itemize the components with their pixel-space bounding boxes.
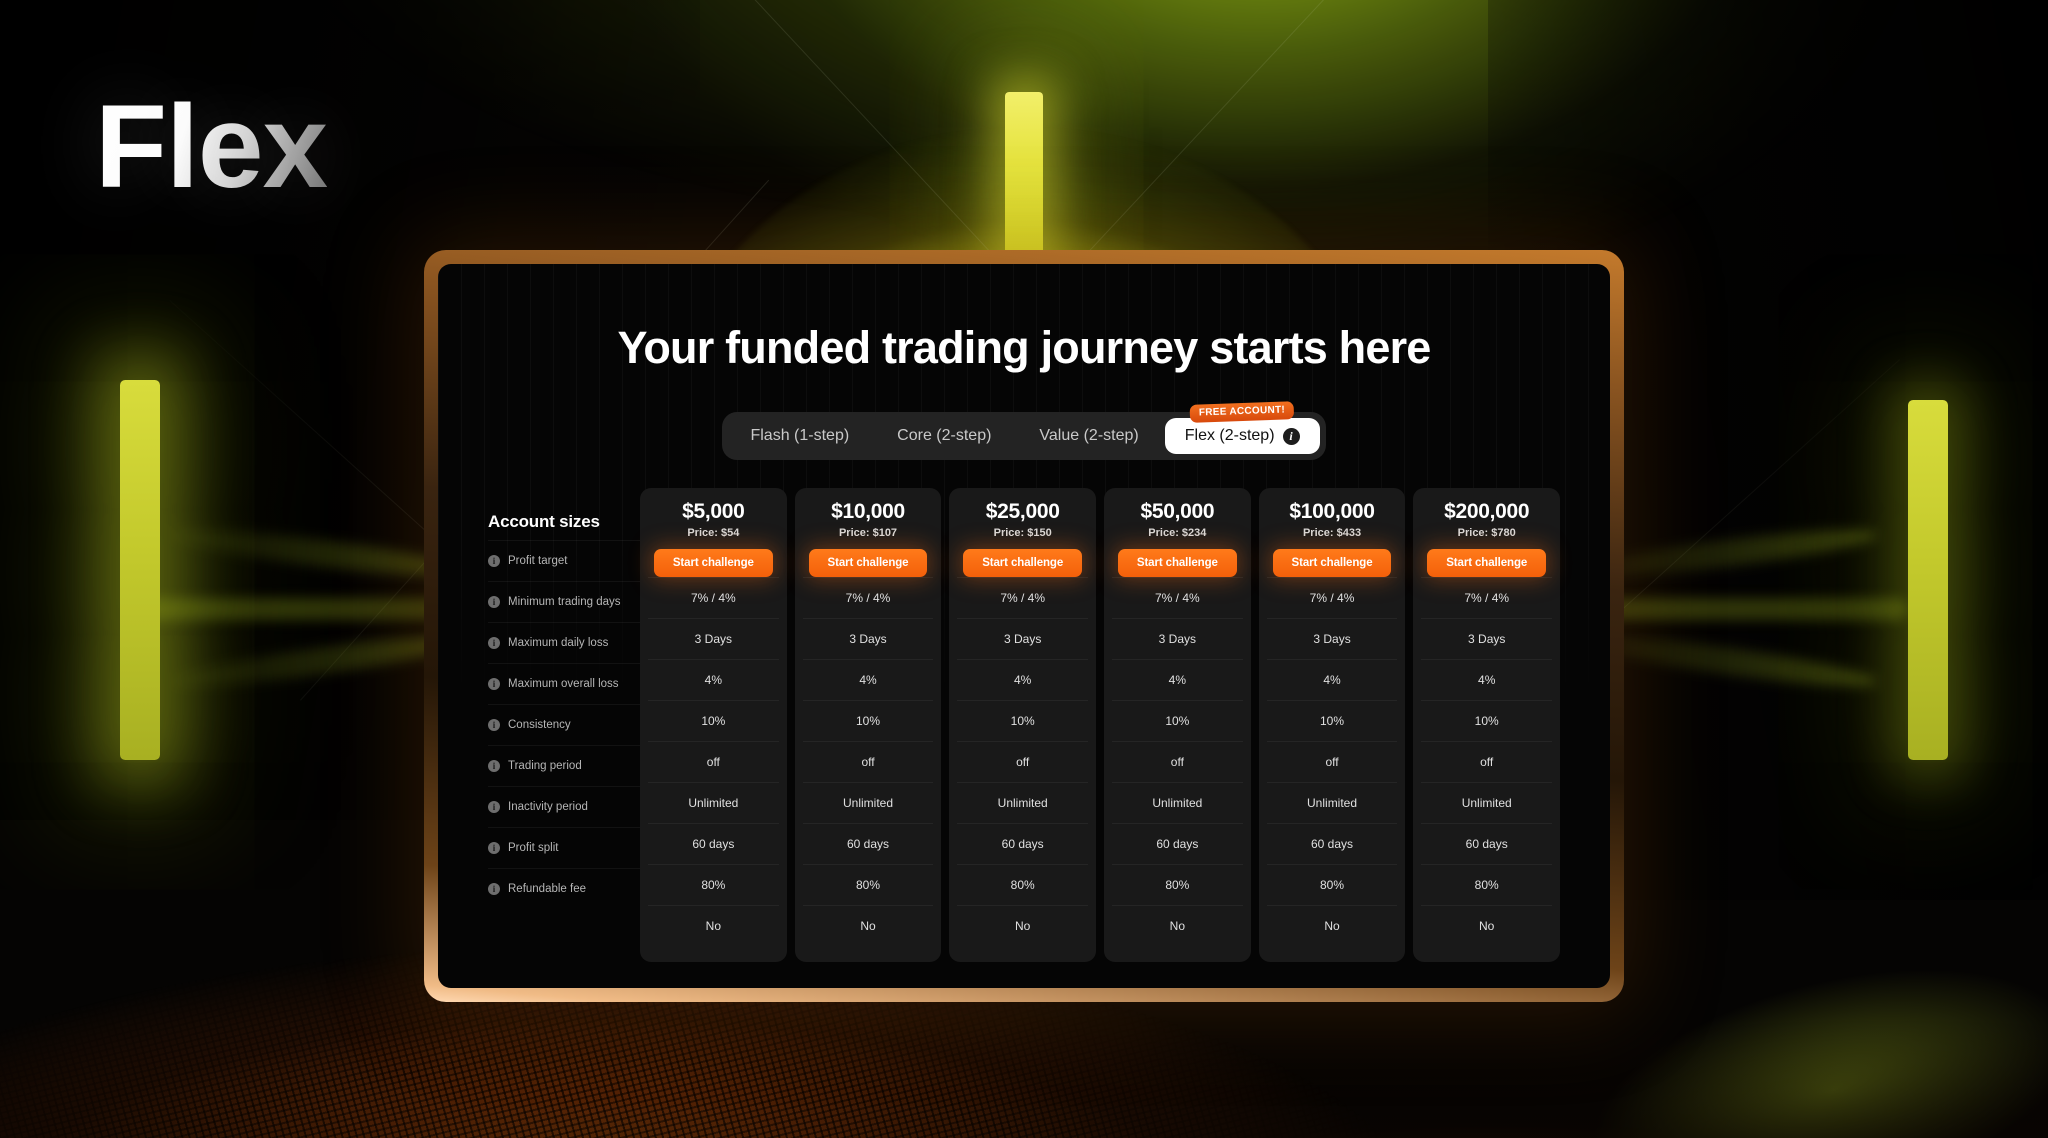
table-cell: No — [1112, 905, 1243, 946]
table-cell: 7% / 4% — [648, 577, 779, 618]
account-price: Price: $107 — [803, 527, 934, 539]
tab-value-2-step[interactable]: Value (2-step) — [1017, 418, 1160, 454]
row-label-text: Consistency — [508, 719, 571, 731]
row-label: iConsistency — [488, 704, 640, 745]
bottom-fade — [0, 1018, 2048, 1138]
table-cell: No — [1421, 905, 1552, 946]
table-cell: Unlimited — [1112, 782, 1243, 823]
table-cell: 80% — [803, 864, 934, 905]
table-cell: 10% — [1421, 700, 1552, 741]
pricing-panel-frame: Your funded trading journey starts here … — [424, 250, 1624, 1002]
tab-flex-2-step[interactable]: FREE ACCOUNT!Flex (2-step)i — [1165, 418, 1320, 454]
table-cell: 3 Days — [803, 618, 934, 659]
table-cell: 10% — [648, 700, 779, 741]
start-challenge-button[interactable]: Start challenge — [809, 549, 928, 577]
table-cell: 10% — [803, 700, 934, 741]
table-cell: 4% — [1112, 659, 1243, 700]
row-label-column: Account sizes iProfit targetiMinimum tra… — [488, 488, 640, 962]
table-cell: 10% — [957, 700, 1088, 741]
account-size-columns: $5,000Price: $54Start challenge7% / 4%3 … — [640, 488, 1560, 962]
table-cell: 60 days — [1421, 823, 1552, 864]
pricing-panel: Your funded trading journey starts here … — [438, 264, 1610, 988]
account-size-value: $10,000 — [803, 500, 934, 524]
table-cell: 4% — [803, 659, 934, 700]
table-cell: 3 Days — [1112, 618, 1243, 659]
table-cell: Unlimited — [648, 782, 779, 823]
info-icon[interactable]: i — [488, 555, 500, 567]
row-label-text: Maximum overall loss — [508, 678, 619, 690]
table-cell: 3 Days — [648, 618, 779, 659]
table-cell: 60 days — [803, 823, 934, 864]
tab-core-2-step[interactable]: Core (2-step) — [875, 418, 1013, 454]
info-icon[interactable]: i — [488, 637, 500, 649]
account-size-card: $5,000Price: $54Start challenge7% / 4%3 … — [640, 488, 787, 962]
table-cell: 80% — [957, 864, 1088, 905]
account-price: Price: $780 — [1421, 527, 1552, 539]
table-cell: 80% — [1421, 864, 1552, 905]
account-size-value: $100,000 — [1267, 500, 1398, 524]
table-cell: 10% — [1112, 700, 1243, 741]
row-label-text: Profit target — [508, 555, 567, 567]
account-size-value: $200,000 — [1421, 500, 1552, 524]
account-size-card: $50,000Price: $234Start challenge7% / 4%… — [1104, 488, 1251, 962]
row-label: iProfit split — [488, 827, 640, 868]
table-cell: 4% — [1267, 659, 1398, 700]
free-account-badge: FREE ACCOUNT! — [1190, 401, 1295, 423]
tab-label: Flash (1-step) — [750, 427, 849, 444]
table-cell: 80% — [1112, 864, 1243, 905]
tab-label: Core (2-step) — [897, 427, 991, 444]
table-cell: 4% — [957, 659, 1088, 700]
page-title: Your funded trading journey starts here — [438, 322, 1610, 374]
table-cell: 60 days — [648, 823, 779, 864]
account-size-value: $5,000 — [648, 500, 779, 524]
table-cell: off — [1267, 741, 1398, 782]
row-label-text: Inactivity period — [508, 801, 588, 813]
table-cell: 60 days — [957, 823, 1088, 864]
table-cell: Unlimited — [1421, 782, 1552, 823]
light-ribbon — [140, 598, 470, 620]
table-cell: 7% / 4% — [1112, 577, 1243, 618]
row-label: iInactivity period — [488, 786, 640, 827]
table-cell: 4% — [1421, 659, 1552, 700]
table-cell: 3 Days — [1267, 618, 1398, 659]
table-cell: 60 days — [1267, 823, 1398, 864]
account-size-value: $50,000 — [1112, 500, 1243, 524]
row-label: iRefundable fee — [488, 868, 640, 909]
row-label: iMaximum daily loss — [488, 622, 640, 663]
flex-wordmark: Flex — [95, 88, 327, 206]
row-label-text: Minimum trading days — [508, 596, 620, 608]
info-icon[interactable]: i — [488, 596, 500, 608]
info-icon[interactable]: i — [488, 678, 500, 690]
table-cell: No — [1267, 905, 1398, 946]
account-price: Price: $234 — [1112, 527, 1243, 539]
tab-flash-1-step[interactable]: Flash (1-step) — [728, 418, 871, 454]
table-cell: off — [957, 741, 1088, 782]
table-cell: off — [648, 741, 779, 782]
table-cell: off — [1112, 741, 1243, 782]
info-icon[interactable]: i — [1283, 428, 1300, 445]
row-label-text: Refundable fee — [508, 883, 586, 895]
table-cell: 7% / 4% — [803, 577, 934, 618]
challenge-type-tabs: Flash (1-step)Core (2-step)Value (2-step… — [722, 412, 1325, 460]
table-cell: 7% / 4% — [1267, 577, 1398, 618]
table-cell: No — [957, 905, 1088, 946]
info-icon[interactable]: i — [488, 883, 500, 895]
light-ribbon — [1578, 598, 1908, 620]
start-challenge-button[interactable]: Start challenge — [1118, 549, 1237, 577]
table-cell: Unlimited — [1267, 782, 1398, 823]
row-label-text: Maximum daily loss — [508, 637, 608, 649]
start-challenge-button[interactable]: Start challenge — [963, 549, 1082, 577]
start-challenge-button[interactable]: Start challenge — [654, 549, 773, 577]
start-challenge-button[interactable]: Start challenge — [1273, 549, 1392, 577]
info-icon[interactable]: i — [488, 760, 500, 772]
table-cell: 7% / 4% — [957, 577, 1088, 618]
account-size-card: $100,000Price: $433Start challenge7% / 4… — [1259, 488, 1406, 962]
info-icon[interactable]: i — [488, 719, 500, 731]
account-size-value: $25,000 — [957, 500, 1088, 524]
table-cell: 7% / 4% — [1421, 577, 1552, 618]
tab-label: Value (2-step) — [1039, 427, 1138, 444]
table-cell: 10% — [1267, 700, 1398, 741]
table-cell: 80% — [648, 864, 779, 905]
table-cell: 3 Days — [957, 618, 1088, 659]
account-sizes-title: Account sizes — [488, 512, 600, 532]
row-label: iProfit target — [488, 540, 640, 581]
account-price: Price: $433 — [1267, 527, 1398, 539]
info-icon[interactable]: i — [488, 842, 500, 854]
row-label-text: Trading period — [508, 760, 582, 772]
table-cell: Unlimited — [803, 782, 934, 823]
account-size-card: $200,000Price: $780Start challenge7% / 4… — [1413, 488, 1560, 962]
left-lime-bar — [120, 380, 160, 760]
right-lime-bar — [1908, 400, 1948, 760]
row-label: iMaximum overall loss — [488, 663, 640, 704]
table-cell: 80% — [1267, 864, 1398, 905]
table-cell: 60 days — [1112, 823, 1243, 864]
account-price: Price: $54 — [648, 527, 779, 539]
table-cell: No — [648, 905, 779, 946]
table-cell: No — [803, 905, 934, 946]
info-icon[interactable]: i — [488, 801, 500, 813]
center-lime-bar — [1005, 92, 1043, 267]
account-size-card: $10,000Price: $107Start challenge7% / 4%… — [795, 488, 942, 962]
account-price: Price: $150 — [957, 527, 1088, 539]
table-cell: off — [803, 741, 934, 782]
table-cell: 4% — [648, 659, 779, 700]
table-cell: off — [1421, 741, 1552, 782]
start-challenge-button[interactable]: Start challenge — [1427, 549, 1546, 577]
tab-label: Flex (2-step) — [1185, 427, 1275, 445]
row-label: iTrading period — [488, 745, 640, 786]
table-cell: 3 Days — [1421, 618, 1552, 659]
pricing-table: Account sizes iProfit targetiMinimum tra… — [488, 488, 1560, 962]
account-size-card: $25,000Price: $150Start challenge7% / 4%… — [949, 488, 1096, 962]
row-label-text: Profit split — [508, 842, 559, 854]
row-label: iMinimum trading days — [488, 581, 640, 622]
table-cell: Unlimited — [957, 782, 1088, 823]
tabbar-wrap: Flash (1-step)Core (2-step)Value (2-step… — [438, 412, 1610, 460]
